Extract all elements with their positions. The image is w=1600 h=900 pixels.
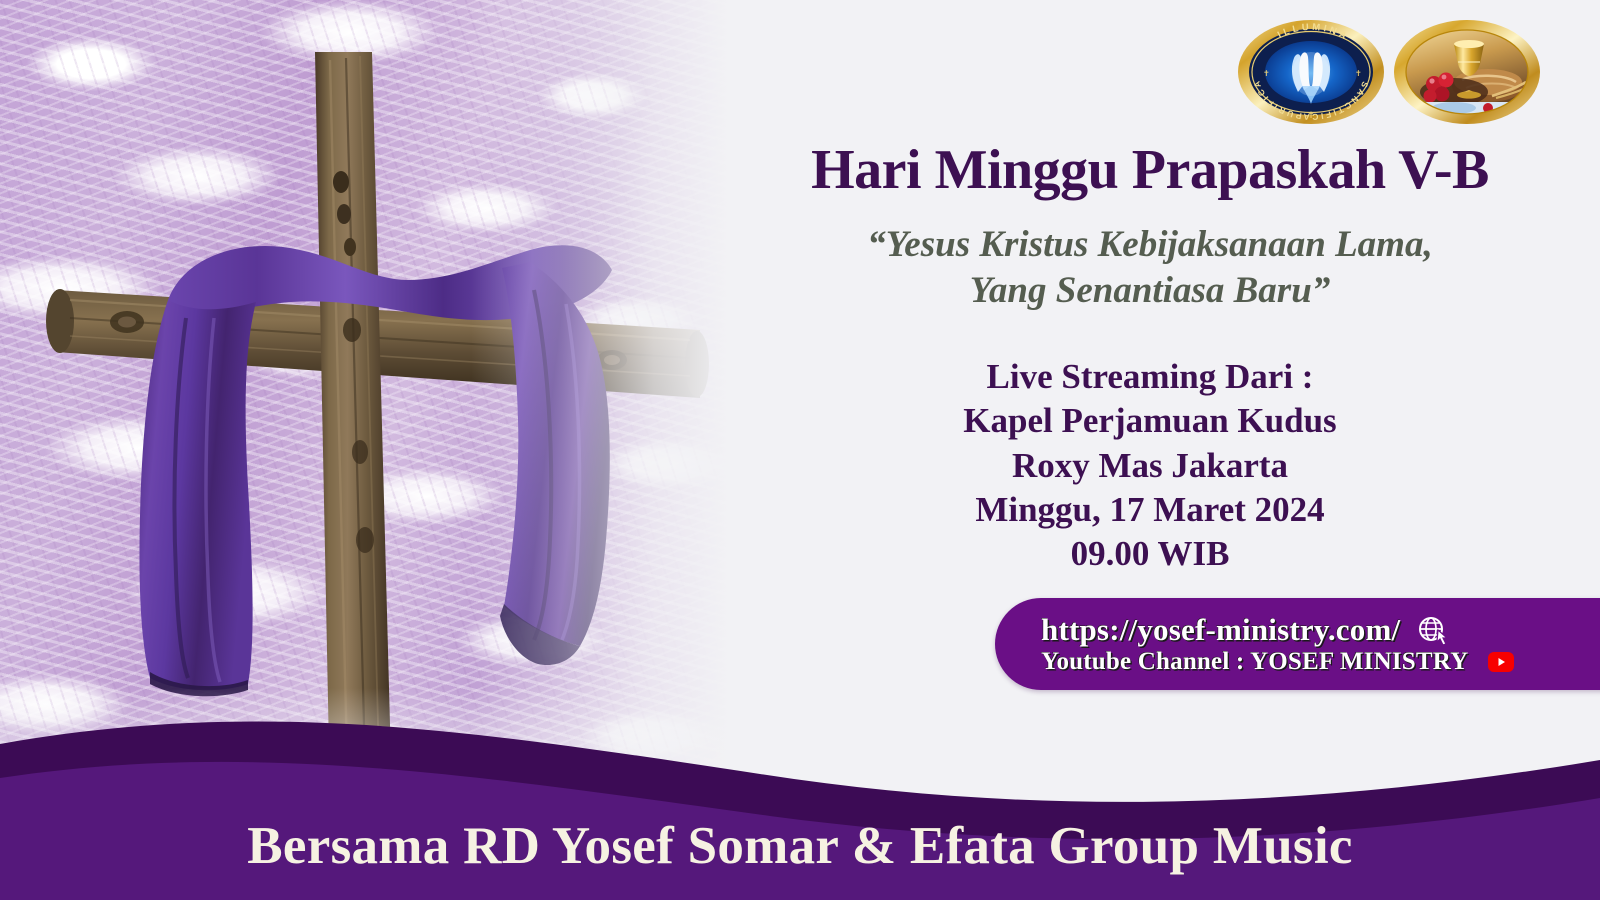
youtube-row[interactable]: Youtube Channel : YOSEF MINISTRY <box>1041 648 1600 676</box>
event-details: Live Streaming Dari : Kapel Perjamuan Ku… <box>700 355 1600 577</box>
subtitle-line-1: “Yesus Kristus Kebijaksanaan Lama, <box>700 222 1600 267</box>
website-row[interactable]: https://yosef-ministry.com/ <box>1041 612 1600 648</box>
detail-line-venue: Kapel Perjamuan Kudus <box>700 399 1600 443</box>
website-url[interactable]: https://yosef-ministry.com/ <box>1041 612 1400 648</box>
detail-line-streaming: Live Streaming Dari : <box>700 355 1600 399</box>
poster-canvas: ILLUMINA SANCTIFICA PURIFICA ✝ ✝ ✝ <box>0 0 1600 900</box>
detail-line-time: 09.00 WIB <box>700 532 1600 576</box>
detail-line-location: Roxy Mas Jakarta <box>700 444 1600 488</box>
subtitle-line-2: Yang Senantiasa Baru” <box>700 268 1600 313</box>
youtube-icon[interactable] <box>1482 650 1520 674</box>
globe-cursor-icon[interactable] <box>1414 613 1452 647</box>
link-bar: https://yosef-ministry.com/ Youtube Chan… <box>995 598 1600 690</box>
presenter-banner: Bersama RD Yosef Somar & Efata Group Mus… <box>0 816 1600 876</box>
youtube-channel-label[interactable]: Youtube Channel : YOSEF MINISTRY <box>1041 648 1468 676</box>
page-title: Hari Minggu Prapaskah V-B <box>700 140 1600 200</box>
poster-subtitle: “Yesus Kristus Kebijaksanaan Lama, Yang … <box>700 222 1600 312</box>
detail-line-date: Minggu, 17 Maret 2024 <box>700 488 1600 532</box>
